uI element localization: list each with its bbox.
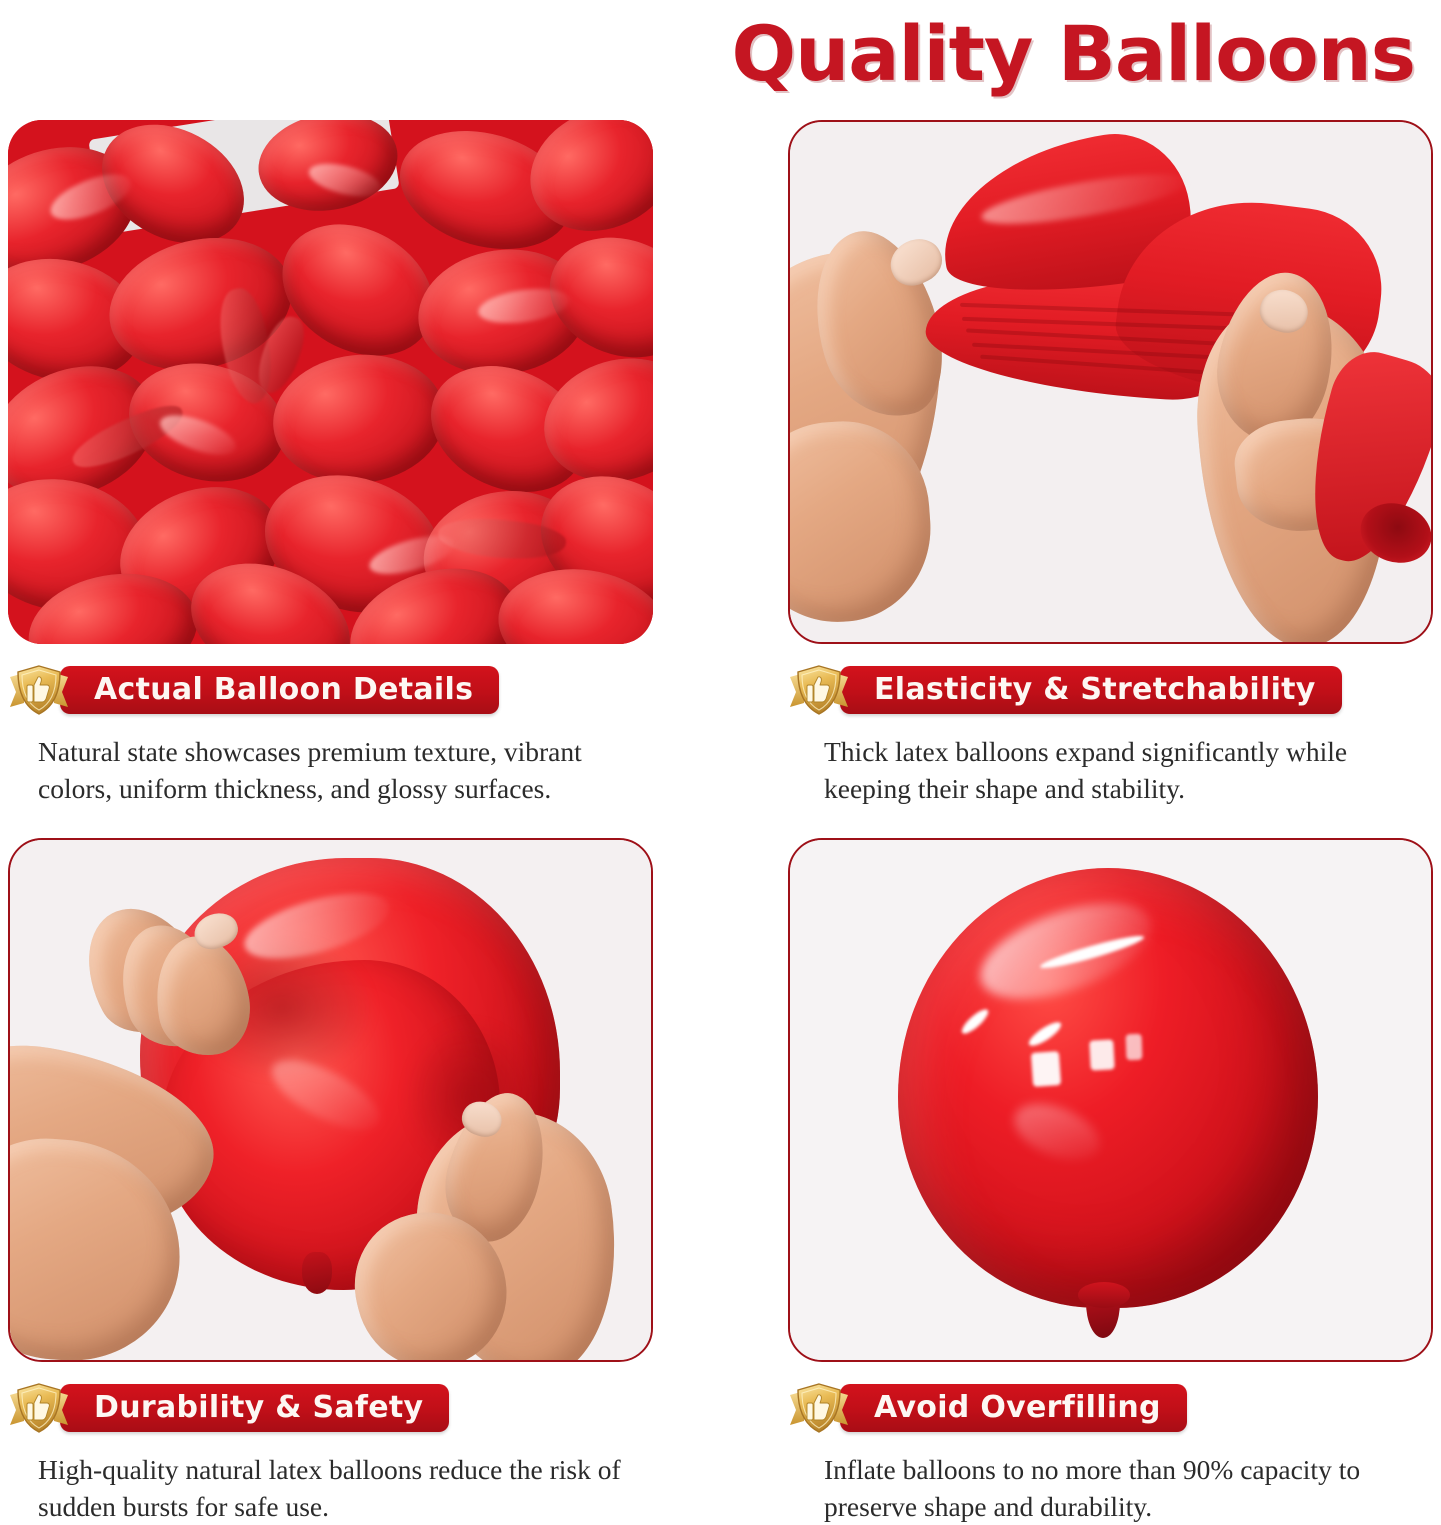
feature-grid: Actual Balloon Details Natural state sho… — [0, 108, 1441, 1500]
badge-banner: Elasticity & Stretchability — [840, 666, 1342, 714]
panel-caption: Inflate balloons to no more than 90% cap… — [788, 1452, 1433, 1525]
badge-banner: Avoid Overfilling — [840, 1384, 1187, 1432]
badge-banner: Actual Balloon Details — [60, 666, 499, 714]
stretch-illustration — [790, 122, 1431, 642]
panel-image-stretch-test — [788, 120, 1433, 644]
panel-image-balloon-pile — [8, 120, 653, 644]
header-bar: Quality Balloons — [0, 0, 1441, 108]
thumbs-up-shield-icon — [788, 663, 850, 717]
feature-panel-actual-balloon-details: Actual Balloon Details Natural state sho… — [8, 120, 653, 807]
badge-row: Elasticity & Stretchability — [788, 662, 1433, 718]
panel-caption: Thick latex balloons expand significantl… — [788, 734, 1433, 807]
feature-panel-durability-safety: Durability & Safety High-quality natural… — [8, 838, 653, 1525]
panel-image-squeeze-test — [8, 838, 653, 1362]
panel-caption: High-quality natural latex balloons redu… — [8, 1452, 653, 1525]
badge-row: Durability & Safety — [8, 1380, 653, 1436]
badge-label: Elasticity & Stretchability — [874, 675, 1316, 705]
panel-caption: Natural state showcases premium texture,… — [8, 734, 653, 807]
thumbs-up-shield-icon — [8, 663, 70, 717]
feature-panel-avoid-overfilling: Avoid Overfilling Inflate balloons to no… — [788, 838, 1433, 1525]
balloon-pile-illustration — [8, 120, 653, 644]
badge-row: Avoid Overfilling — [788, 1380, 1433, 1436]
inflated-balloon-illustration — [790, 840, 1431, 1360]
panel-image-inflated-balloon — [788, 838, 1433, 1362]
feature-panel-elasticity-stretchability: Elasticity & Stretchability Thick latex … — [788, 120, 1433, 807]
badge-label: Durability & Safety — [94, 1393, 423, 1423]
badge-label: Actual Balloon Details — [94, 675, 473, 705]
badge-row: Actual Balloon Details — [8, 662, 653, 718]
badge-banner: Durability & Safety — [60, 1384, 449, 1432]
badge-label: Avoid Overfilling — [874, 1393, 1161, 1423]
page-title: Quality Balloons — [731, 16, 1415, 92]
thumbs-up-shield-icon — [8, 1381, 70, 1435]
squeeze-illustration — [10, 840, 651, 1360]
thumbs-up-shield-icon — [788, 1381, 850, 1435]
